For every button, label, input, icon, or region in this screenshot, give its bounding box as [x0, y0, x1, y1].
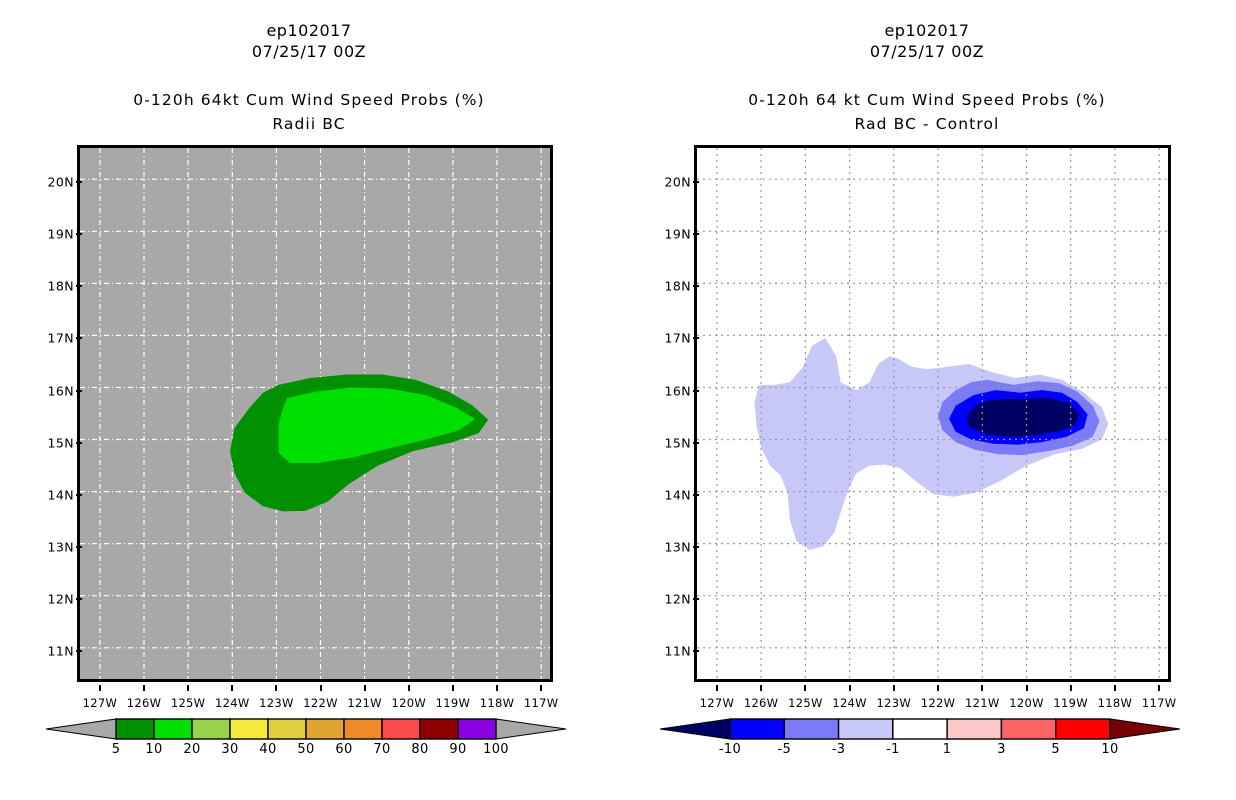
panel-right-main-title: 0-120h 64 kt Cum Wind Speed Probs (%) Ra… — [618, 88, 1236, 136]
x-tick-label: 122W — [303, 696, 338, 710]
x-tick-mark — [804, 685, 806, 691]
panel-left-title-line1: 0-120h 64kt Cum Wind Speed Probs (%) — [133, 91, 484, 109]
x-tick-label: 121W — [965, 696, 1000, 710]
x-tick-label: 119W — [436, 696, 471, 710]
y-tick-mark — [76, 285, 82, 287]
y-tick-label: 11N — [665, 643, 691, 658]
colorbar-tick-label: 5 — [1051, 742, 1060, 757]
panel-left-main-title: 0-120h 64kt Cum Wind Speed Probs (%) Rad… — [0, 88, 618, 136]
y-tick-label: 20N — [665, 175, 691, 190]
colorbar-tick-label: 70 — [373, 742, 390, 757]
x-tick-mark — [187, 685, 189, 691]
colorbar-tick-label: -10 — [719, 742, 741, 757]
y-tick-label: 12N — [48, 591, 74, 606]
panel-radii-bc: ep102017 07/25/17 00Z 0-120h 64kt Cum Wi… — [0, 0, 618, 800]
probability-colorbar[interactable]: 5102030405060708090100 — [46, 714, 566, 760]
colorbar-tick-label: -5 — [778, 742, 792, 757]
y-tick-mark — [693, 546, 699, 548]
y-tick-mark — [76, 181, 82, 183]
x-axis-right: 127W126W125W124W123W122W121W120W119W118W… — [697, 692, 1168, 716]
colorbar-tick-label: 90 — [449, 742, 466, 757]
x-tick-label: 125W — [788, 696, 823, 710]
x-tick-label: 122W — [921, 696, 956, 710]
difference-colorbar-swatches — [660, 714, 1180, 744]
y-tick-label: 19N — [665, 227, 691, 242]
y-tick-label: 18N — [48, 279, 74, 294]
y-tick-mark — [76, 442, 82, 444]
y-tick-mark — [693, 598, 699, 600]
panel-rad-bc-minus-control: ep102017 07/25/17 00Z 0-120h 64 kt Cum W… — [618, 0, 1236, 800]
plot-area-radii-bc[interactable] — [77, 145, 553, 682]
colorbar-tick-label: 100 — [483, 742, 509, 757]
y-tick-label: 13N — [665, 539, 691, 554]
x-tick-label: 118W — [480, 696, 515, 710]
x-tick-mark — [937, 685, 939, 691]
x-tick-mark — [893, 685, 895, 691]
panel-left-storm-id: ep102017 — [266, 21, 351, 40]
x-tick-label: 126W — [744, 696, 779, 710]
panel-left-datetime: 07/25/17 00Z — [252, 42, 366, 61]
colorbar-tick-label: -3 — [832, 742, 846, 757]
x-tick-mark — [231, 685, 233, 691]
y-tick-label: 11N — [48, 643, 74, 658]
colorbar-tick-label: -1 — [886, 742, 900, 757]
x-tick-mark — [452, 685, 454, 691]
x-tick-mark — [1026, 685, 1028, 691]
x-tick-label: 123W — [259, 696, 294, 710]
x-tick-mark — [716, 685, 718, 691]
y-tick-mark — [693, 494, 699, 496]
y-tick-mark — [693, 233, 699, 235]
colorbar-tick-label: 40 — [259, 742, 276, 757]
gridlines-right — [697, 148, 1168, 679]
y-tick-mark — [76, 390, 82, 392]
colorbar-tick-label: 20 — [183, 742, 200, 757]
x-tick-mark — [143, 685, 145, 691]
y-tick-label: 20N — [48, 175, 74, 190]
plot-area-rad-bc-minus-control[interactable] — [694, 145, 1171, 682]
x-tick-label: 120W — [392, 696, 427, 710]
x-tick-label: 117W — [524, 696, 559, 710]
contours-left — [80, 148, 550, 679]
y-tick-label: 15N — [48, 435, 74, 450]
y-tick-label: 17N — [48, 331, 74, 346]
colorbar-tick-label: 5 — [112, 742, 121, 757]
x-tick-mark — [364, 685, 366, 691]
x-tick-label: 125W — [171, 696, 206, 710]
panel-right-storm-id: ep102017 — [884, 21, 969, 40]
y-tick-mark — [693, 285, 699, 287]
x-axis-left: 127W126W125W124W123W122W121W120W119W118W… — [80, 692, 550, 716]
y-tick-mark — [76, 233, 82, 235]
colorbar-tick-label: 3 — [997, 742, 1006, 757]
x-tick-mark — [981, 685, 983, 691]
y-tick-label: 17N — [665, 331, 691, 346]
x-tick-label: 121W — [347, 696, 382, 710]
y-tick-label: 18N — [665, 279, 691, 294]
y-tick-mark — [76, 598, 82, 600]
panel-right-title-line2: Rad BC - Control — [855, 115, 1000, 133]
panel-left-storm-title: ep102017 07/25/17 00Z — [0, 20, 618, 62]
y-tick-mark — [76, 546, 82, 548]
x-tick-mark — [1070, 685, 1072, 691]
probability-colorbar-swatches — [46, 714, 566, 744]
difference-colorbar[interactable]: -10-5-3-113510 — [660, 714, 1180, 760]
y-tick-label: 16N — [48, 383, 74, 398]
colorbar-tick-label: 10 — [145, 742, 162, 757]
y-tick-label: 14N — [665, 487, 691, 502]
y-tick-mark — [76, 494, 82, 496]
plot-inner-right — [697, 148, 1168, 679]
x-tick-mark — [760, 685, 762, 691]
y-tick-label: 16N — [665, 383, 691, 398]
colorbar-tick-label: 80 — [411, 742, 428, 757]
x-tick-mark — [275, 685, 277, 691]
y-axis-left: 20N19N18N17N16N15N14N13N12N11N — [28, 148, 74, 679]
y-tick-label: 19N — [48, 227, 74, 242]
x-tick-mark — [540, 685, 542, 691]
x-tick-label: 124W — [832, 696, 867, 710]
x-tick-label: 118W — [1098, 696, 1133, 710]
colorbar-tick-label: 50 — [297, 742, 314, 757]
x-tick-mark — [496, 685, 498, 691]
x-tick-mark — [320, 685, 322, 691]
colorbar-tick-label: 1 — [943, 742, 952, 757]
panel-right-storm-title: ep102017 07/25/17 00Z — [618, 20, 1236, 62]
y-tick-mark — [693, 442, 699, 444]
x-tick-label: 117W — [1142, 696, 1177, 710]
panel-right-title-line1: 0-120h 64 kt Cum Wind Speed Probs (%) — [748, 91, 1105, 109]
y-tick-label: 13N — [48, 539, 74, 554]
x-tick-mark — [1114, 685, 1116, 691]
y-tick-label: 14N — [48, 487, 74, 502]
x-tick-mark — [849, 685, 851, 691]
x-tick-label: 127W — [700, 696, 735, 710]
x-tick-mark — [408, 685, 410, 691]
panel-left-title-line2: Radii BC — [272, 115, 345, 133]
x-tick-label: 120W — [1009, 696, 1044, 710]
y-tick-mark — [693, 337, 699, 339]
x-tick-label: 119W — [1053, 696, 1088, 710]
y-tick-mark — [76, 650, 82, 652]
y-tick-mark — [693, 650, 699, 652]
x-tick-mark — [99, 685, 101, 691]
y-tick-mark — [76, 337, 82, 339]
x-tick-label: 127W — [83, 696, 118, 710]
plot-inner-left — [80, 148, 550, 679]
panel-right-datetime: 07/25/17 00Z — [870, 42, 984, 61]
y-tick-label: 12N — [665, 591, 691, 606]
y-tick-mark — [693, 390, 699, 392]
colorbar-tick-label: 30 — [221, 742, 238, 757]
y-tick-label: 15N — [665, 435, 691, 450]
x-tick-label: 123W — [877, 696, 912, 710]
x-tick-label: 126W — [127, 696, 162, 710]
colorbar-tick-label: 10 — [1101, 742, 1118, 757]
x-tick-mark — [1158, 685, 1160, 691]
x-tick-label: 124W — [215, 696, 250, 710]
y-axis-right: 20N19N18N17N16N15N14N13N12N11N — [645, 148, 691, 679]
colorbar-tick-label: 60 — [335, 742, 352, 757]
y-tick-mark — [693, 181, 699, 183]
